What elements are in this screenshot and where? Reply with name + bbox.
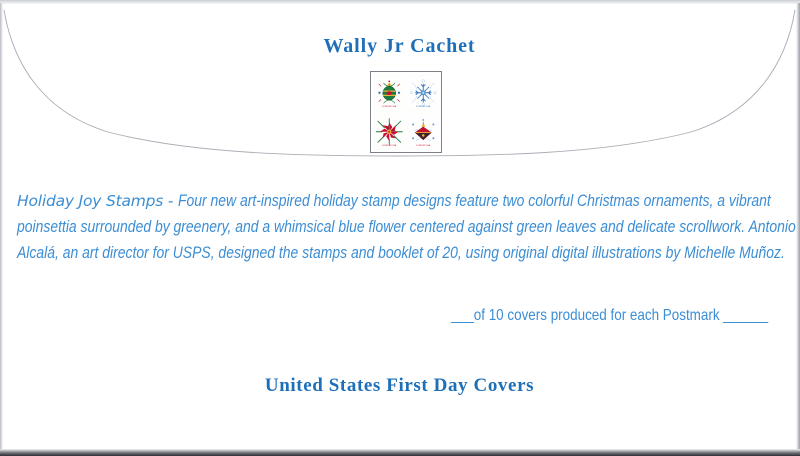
stamp-top-right: FOREVER USA [407, 74, 440, 112]
stamp-top-left: FOREVER USA [373, 74, 406, 112]
cachet-title: Wally Jr Cachet [3, 35, 796, 58]
envelope-scan: Wally Jr Cachet [0, 0, 800, 456]
description-line-2: poinsettia surrounded by greenery, and a… [17, 214, 793, 240]
scan-edge-right [796, 3, 800, 453]
description-line-1: Holiday Joy Stamps - Four new art-inspir… [17, 188, 793, 214]
covers-produced-note: ___of 10 covers produced for each Postma… [3, 307, 782, 325]
snowflake-icon: FOREVER USA [407, 74, 440, 112]
stamp-grid: FOREVER USA [373, 74, 439, 150]
envelope-paper: Wally Jr Cachet [3, 4, 796, 449]
svg-text:FOREVER USA: FOREVER USA [382, 143, 397, 146]
description-separator: - [163, 192, 178, 210]
description-line-2-text: poinsettia surrounded by greenery, and a… [17, 214, 796, 240]
svg-text:FOREVER USA: FOREVER USA [416, 143, 431, 146]
description-line-3: Alcalá, an art director for USPS, design… [17, 240, 793, 266]
ornament-icon: FOREVER USA [407, 113, 440, 151]
svg-text:FOREVER USA: FOREVER USA [382, 105, 397, 108]
stamp-bottom-left: FOREVER USA [373, 113, 406, 151]
cachet-description: Holiday Joy Stamps - Four new art-inspir… [17, 188, 793, 266]
stamp-bottom-right: FOREVER USA [407, 113, 440, 151]
svg-text:FOREVER USA: FOREVER USA [416, 105, 431, 108]
footer-title: United States First Day Covers [3, 375, 796, 397]
scan-edge-bottom [0, 449, 800, 456]
stamp-block: FOREVER USA [370, 71, 442, 153]
covers-produced-text: ___of 10 covers produced for each Postma… [451, 307, 768, 325]
description-line-1-text: Four new art-inspired holiday stamp desi… [178, 188, 771, 214]
ornament-icon: FOREVER USA [373, 74, 406, 112]
poinsettia-icon: FOREVER USA [373, 113, 406, 151]
description-line-3-text: Alcalá, an art director for USPS, design… [17, 240, 785, 266]
description-lead-label: Holiday Joy Stamps [17, 192, 163, 210]
